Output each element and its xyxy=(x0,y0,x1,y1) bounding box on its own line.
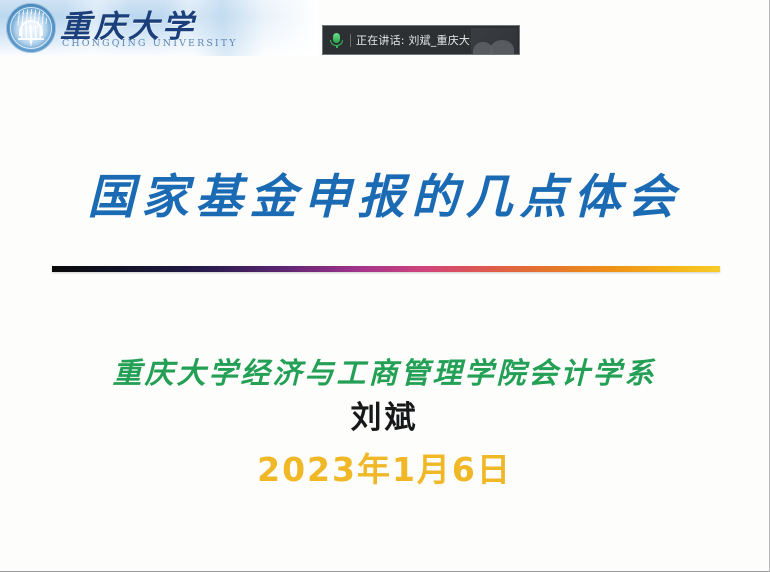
microphone-icon xyxy=(323,25,349,55)
speaking-bar-divider xyxy=(350,34,351,47)
presentation-date: 2023年1月6日 xyxy=(0,443,769,491)
affiliation-text: 重庆大学经济与工商管理学院会计学系 xyxy=(0,350,769,392)
presenter-name: 刘斌 xyxy=(0,392,769,437)
gradient-divider-line xyxy=(52,266,720,272)
microphone-post xyxy=(336,45,338,48)
university-name-english: CHONGQING UNIVERSITY xyxy=(62,38,238,49)
speaker-video-thumbnail[interactable] xyxy=(471,28,517,54)
slide-title: 国家基金申报的几点体会 xyxy=(0,158,769,227)
speaking-indicator-bar[interactable]: 正在讲话: 刘斌_重庆大学; xyxy=(322,25,520,55)
speaking-status-text: 正在讲话: 刘斌_重庆大学; xyxy=(356,32,485,48)
thumbnail-silhouette-right xyxy=(490,40,514,54)
emblem-pillars xyxy=(21,25,41,39)
presentation-slide: 重庆大学 CHONGQING UNIVERSITY 正在讲话: 刘斌_重庆大学;… xyxy=(0,0,770,572)
chongqing-university-emblem-icon xyxy=(6,3,56,53)
